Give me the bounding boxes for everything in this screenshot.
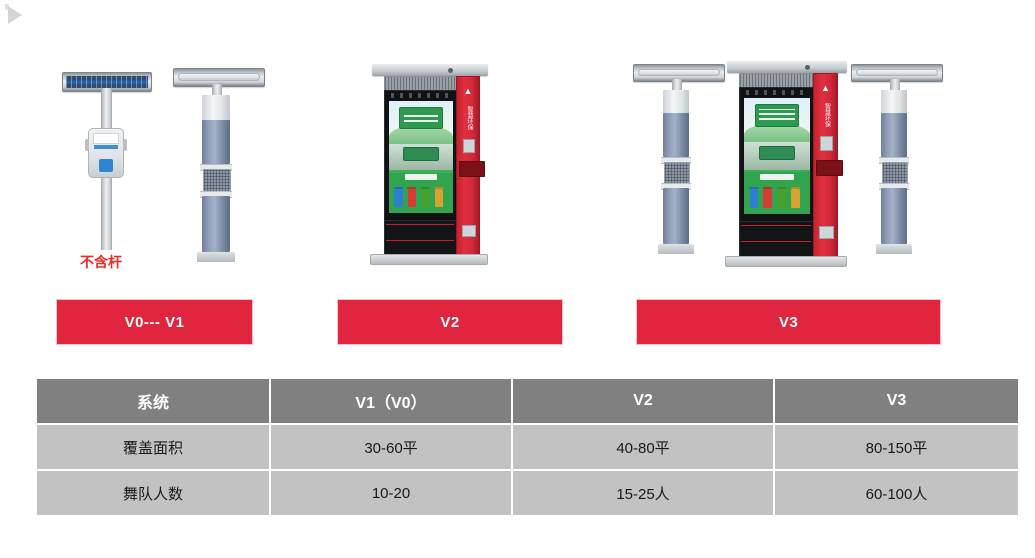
- poster-green-panel: [744, 172, 809, 214]
- column-top-white: [881, 90, 907, 114]
- kiosk-v2[interactable]: ▲ 智慧环保: [370, 64, 490, 264]
- column-lower-speaker: [881, 188, 907, 244]
- table-row: 覆盖面积 30-60平 40-80平 80-150平: [37, 425, 1018, 469]
- poster-headline: [399, 107, 442, 129]
- cell-coverage-v2: 40-80平: [513, 425, 773, 469]
- cell-team-v1: 10-20: [271, 471, 511, 515]
- kiosk-display-screen[interactable]: [739, 87, 815, 223]
- lamp-face: [638, 69, 720, 76]
- table-row: 舞队人数 10-20 15-25人 60-100人: [37, 471, 1018, 515]
- col-header-v1: V1（V0）: [271, 379, 511, 423]
- recycle-bin-green: [422, 189, 430, 208]
- version-bar-v3[interactable]: V3: [637, 300, 940, 344]
- cell-team-v3: 60-100人: [775, 471, 1018, 515]
- kiosk-lower-panel: [739, 221, 815, 258]
- spec-comparison-table: 系统 V1（V0） V2 V3 覆盖面积 30-60平 40-80平 80-15…: [35, 377, 1020, 517]
- column-base: [658, 244, 694, 254]
- column-grill: [203, 169, 231, 193]
- speaker-column-left[interactable]: [625, 64, 730, 260]
- control-box[interactable]: [88, 128, 124, 178]
- kiosk-side-label: 智慧环保: [464, 101, 472, 135]
- recycle-bin-green: [778, 189, 786, 208]
- kiosk-accent-line-2: [386, 240, 454, 241]
- col-header-v3: V3: [775, 379, 1018, 423]
- kiosk-foot-plate: [370, 254, 488, 265]
- version-bar-v0-v1[interactable]: V0--- V1: [57, 300, 252, 344]
- kiosk-display-screen[interactable]: [384, 90, 458, 222]
- column-grill: [882, 162, 908, 185]
- col-header-system: 系统: [37, 379, 269, 423]
- column-upper-speaker: [881, 113, 907, 157]
- kiosk-foot-plate: [725, 256, 847, 267]
- kiosk-lower-panel: [384, 220, 458, 256]
- kiosk-canopy: [727, 61, 847, 73]
- recycle-bin-yellow: [435, 189, 443, 208]
- recycle-bin-yellow: [791, 189, 799, 208]
- caption-not-including-pole: 不含杆: [80, 252, 122, 272]
- camera-icon: [448, 68, 453, 73]
- poster-section-title: [405, 174, 438, 180]
- table-header-row: 系统 V1（V0） V2 V3: [37, 379, 1018, 423]
- row-label-team-size: 舞队人数: [37, 471, 269, 515]
- poster-bus: [759, 146, 796, 161]
- cell-coverage-v3: 80-150平: [775, 425, 1018, 469]
- kiosk-scan-pad[interactable]: [819, 226, 834, 239]
- control-box-bracket-right: [123, 139, 127, 151]
- kiosk-accent-line-1: [386, 224, 454, 225]
- kiosk-side-label: 智慧环保: [822, 98, 830, 132]
- product-group-v2: ▲ 智慧环保: [360, 40, 510, 280]
- kiosk-accent-line-1: [741, 225, 811, 226]
- wifi-icon: ▲: [457, 87, 479, 96]
- column-upper-speaker: [202, 120, 230, 164]
- column-base: [197, 252, 235, 262]
- lamp-face: [178, 73, 260, 81]
- kiosk-deposit-slot[interactable]: [459, 161, 485, 177]
- speaker-column-v1[interactable]: [165, 68, 270, 268]
- speaker-column-right[interactable]: [843, 64, 948, 260]
- camera-icon: [805, 65, 810, 70]
- advert-poster: [744, 98, 809, 214]
- kiosk-red-column: ▲ 智慧环保: [456, 76, 480, 256]
- col-header-v2: V2: [513, 379, 773, 423]
- cell-team-v2: 15-25人: [513, 471, 773, 515]
- kiosk-scan-pad[interactable]: [462, 225, 476, 237]
- kiosk-red-column: ▲ 智慧环保: [813, 73, 838, 258]
- wifi-icon: ▲: [814, 84, 837, 93]
- kiosk-qr-pad[interactable]: [820, 136, 833, 151]
- kiosk-v3[interactable]: ▲ 智慧环保: [725, 61, 850, 266]
- poster-green-panel: [389, 173, 452, 213]
- play-triangle-icon[interactable]: [8, 6, 22, 24]
- kiosk-qr-pad[interactable]: [463, 139, 475, 153]
- screen-status-row: [391, 93, 452, 98]
- column-base: [876, 244, 912, 254]
- poster-bus: [403, 147, 439, 161]
- lamp-face: [856, 69, 938, 76]
- recycle-bin-blue: [394, 189, 402, 208]
- row-label-coverage-area: 覆盖面积: [37, 425, 269, 469]
- column-upper-speaker: [663, 113, 689, 157]
- cell-coverage-v1: 30-60平: [271, 425, 511, 469]
- recycle-bin-blue: [750, 189, 758, 208]
- column-lower-speaker: [202, 196, 230, 252]
- screen-status-row: [746, 90, 808, 95]
- poster-section-title: [760, 174, 794, 180]
- control-box-indicator: [94, 145, 118, 149]
- solar-panel-pole[interactable]: [56, 58, 156, 250]
- kiosk-canopy: [372, 64, 488, 76]
- advert-poster: [389, 101, 452, 213]
- solar-cells: [66, 76, 148, 88]
- control-box-display: [93, 133, 119, 144]
- product-group-v3: ▲ 智慧环保: [615, 40, 955, 280]
- control-box-knob[interactable]: [99, 159, 113, 172]
- kiosk-deposit-slot[interactable]: [816, 160, 843, 176]
- column-grill: [664, 162, 690, 185]
- product-group-v0-v1: 不含杆: [50, 40, 275, 280]
- recycle-bin-red: [763, 189, 771, 208]
- control-box-bracket-left: [85, 139, 89, 151]
- column-top-white: [663, 90, 689, 114]
- poster-headline: [755, 104, 799, 127]
- product-gallery: 不含杆: [0, 40, 1035, 280]
- kiosk-accent-line-2: [741, 241, 811, 242]
- column-lower-speaker: [663, 188, 689, 244]
- version-bar-v2[interactable]: V2: [338, 300, 562, 344]
- column-top-white: [202, 95, 230, 121]
- recycle-bin-red: [408, 189, 416, 208]
